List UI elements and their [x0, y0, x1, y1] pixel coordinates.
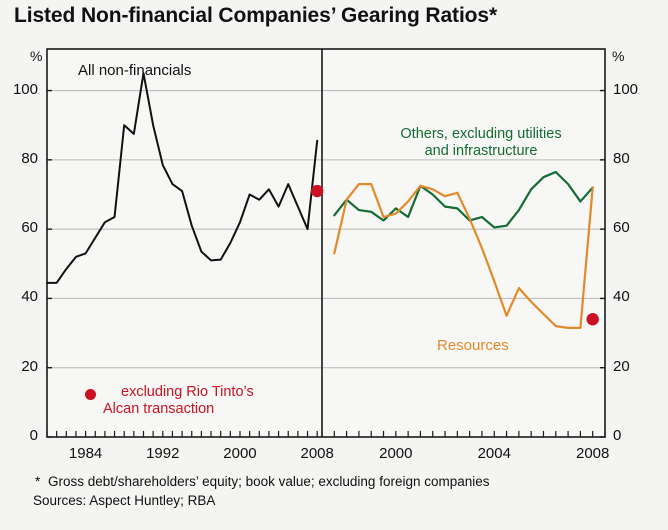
x-tick-label-left-2008: 2008	[287, 445, 347, 462]
y-tick-label-left-60: 60	[4, 219, 38, 236]
x-tick-label-left-1992: 1992	[133, 445, 193, 462]
annotation-others-line2: and infrastructure	[362, 143, 600, 160]
y-tick-label-right-60: 60	[613, 219, 647, 236]
plot-background	[47, 49, 605, 437]
annotation-resources: Resources	[437, 337, 509, 354]
annotation-red-dot-legend: excluding Rio Tinto’s Alcan transaction	[103, 384, 313, 418]
red-legend-line1: excluding Rio Tinto’s	[103, 384, 313, 401]
footnote-note: Gross debt/shareholders’ equity; book va…	[48, 474, 490, 489]
x-tick-label-left-1984: 1984	[56, 445, 116, 462]
y-tick-label-right-40: 40	[613, 288, 647, 305]
red-dot-legend-marker	[85, 389, 96, 400]
data-point-red-dot-left	[311, 185, 323, 197]
y-tick-label-left-100: 100	[4, 81, 38, 98]
gearing-ratios-chart: Listed Non-financial Companies’ Gearing …	[0, 0, 668, 530]
x-tick-label-right-2008: 2008	[563, 445, 623, 462]
y-tick-label-left-40: 40	[4, 288, 38, 305]
y-tick-label-left-80: 80	[4, 150, 38, 167]
y-tick-label-left-20: 20	[4, 358, 38, 375]
annotation-others: Others, excluding utilities and infrastr…	[362, 126, 600, 160]
y-tick-label-right-100: 100	[613, 81, 647, 98]
data-point-red-dot-right	[586, 313, 598, 325]
y-tick-label-left-0: 0	[4, 427, 38, 444]
annotation-others-line1: Others, excluding utilities	[362, 126, 600, 143]
x-tick-label-left-2000: 2000	[210, 445, 270, 462]
y-tick-label-right-80: 80	[613, 150, 647, 167]
y-tick-label-right-20: 20	[613, 358, 647, 375]
red-legend-line2: Alcan transaction	[103, 401, 313, 418]
footnote-star: *	[35, 474, 40, 489]
annotation-all-nonfinancials: All non-financials	[78, 62, 191, 79]
y-tick-label-right-0: 0	[613, 427, 647, 444]
x-tick-label-right-2000: 2000	[366, 445, 426, 462]
x-tick-label-right-2004: 2004	[464, 445, 524, 462]
footnote-sources: Sources: Aspect Huntley; RBA	[33, 493, 215, 508]
